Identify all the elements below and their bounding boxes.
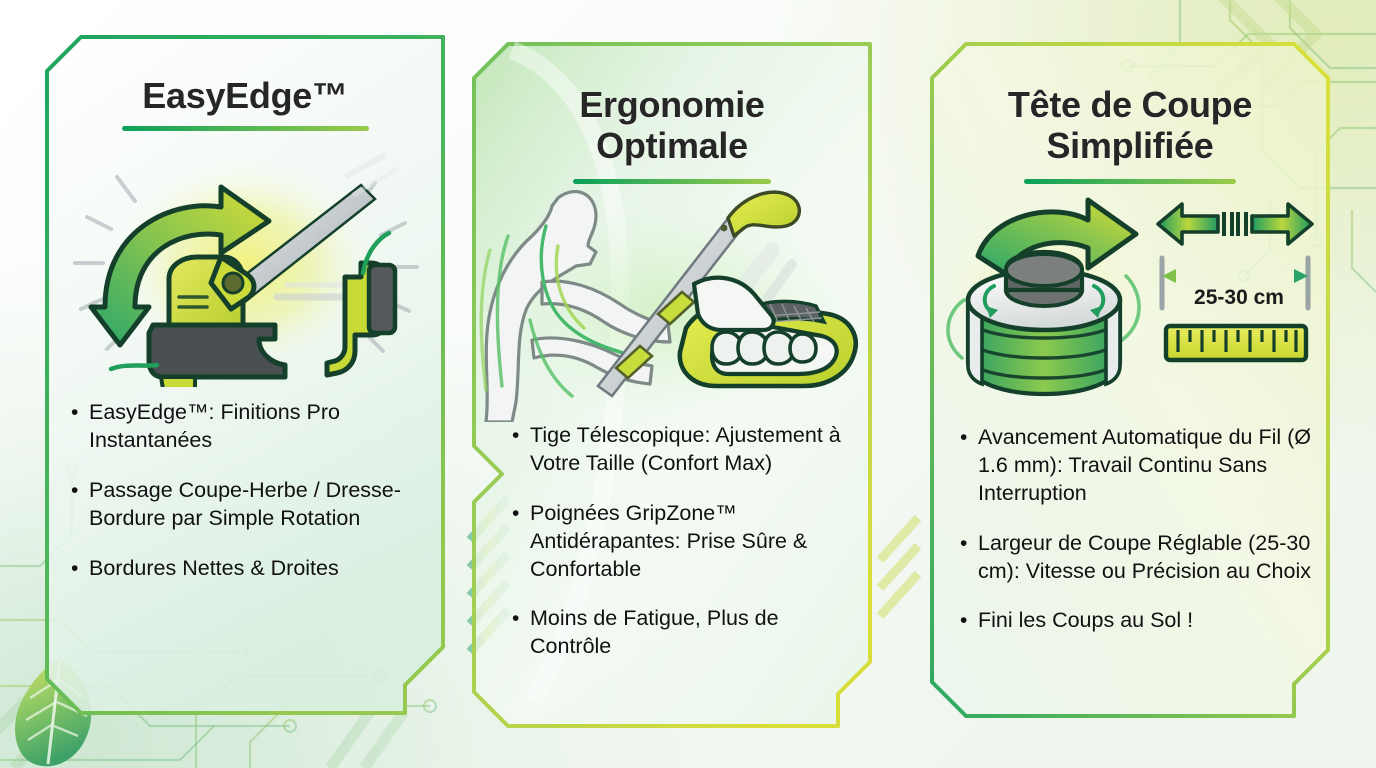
bullet-icon: •: [512, 500, 530, 584]
list-item: • Largeur de Coupe Réglable (25-30 cm): …: [960, 530, 1312, 586]
title-underline: [573, 179, 771, 184]
list-item: • Passage Coupe-Herbe / Dresse-Bordure p…: [71, 477, 435, 533]
list-item: • Avancement Automatique du Fil (Ø 1.6 m…: [960, 424, 1312, 508]
panel-title-block: Ergonomie Optimale: [472, 42, 872, 184]
page-title: EasyEdge™: [45, 75, 445, 116]
list-item-text: Largeur de Coupe Réglable (25-30 cm): Vi…: [978, 530, 1312, 586]
list-item-text: Fini les Coups au Sol !: [978, 607, 1312, 635]
page-title-line-2: Simplifiée: [930, 125, 1330, 166]
panel-tete-de-coupe: Tête de Coupe Simplifiée: [930, 42, 1330, 718]
bullet-icon: •: [960, 530, 978, 586]
feature-list: • Avancement Automatique du Fil (Ø 1.6 m…: [930, 424, 1330, 718]
list-item-text: Passage Coupe-Herbe / Dresse-Bordure par…: [89, 477, 435, 533]
panel-ergonomie: Ergonomie Optimale: [472, 42, 872, 728]
list-item-text: Poignées GripZone™ Antidérapantes: Prise…: [530, 500, 858, 584]
bullet-icon: •: [71, 555, 89, 583]
list-item-text: Moins de Fatigue, Plus de Contrôle: [530, 605, 858, 661]
illustration-ergonomic-posture: [472, 190, 872, 422]
list-item-text: Avancement Automatique du Fil (Ø 1.6 mm)…: [978, 424, 1312, 508]
bullet-icon: •: [512, 605, 530, 661]
panel-easyedge: EasyEdge™: [45, 35, 445, 715]
panel-title-block: EasyEdge™: [45, 35, 445, 131]
list-item: • Moins de Fatigue, Plus de Contrôle: [512, 605, 858, 661]
infographic-canvas: EasyEdge™: [0, 0, 1376, 768]
diagonal-stripes-decoration-2: [880, 518, 918, 616]
page-title: Ergonomie Optimale: [472, 84, 872, 167]
title-underline: [1024, 179, 1236, 184]
bullet-icon: •: [960, 607, 978, 635]
list-item: • EasyEdge™: Finitions Pro Instantanées: [71, 399, 435, 455]
bullet-icon: •: [71, 399, 89, 455]
list-item-text: EasyEdge™: Finitions Pro Instantanées: [89, 399, 435, 455]
bullet-icon: •: [960, 424, 978, 508]
title-underline: [122, 126, 369, 131]
measurement-label: 25-30 cm: [1166, 286, 1312, 310]
list-item-text: Tige Télescopique: Ajustement à Votre Ta…: [530, 422, 858, 478]
feature-list: • Tige Télescopique: Ajustement à Votre …: [472, 422, 872, 728]
width-arrow-icon: [1158, 204, 1312, 244]
illustration-spool-and-width: 25-30 cm: [930, 190, 1330, 420]
list-item: • Bordures Nettes & Droites: [71, 555, 435, 583]
panel-title-block: Tête de Coupe Simplifiée: [930, 42, 1330, 184]
page-title-line-1: Ergonomie: [472, 84, 872, 125]
list-item-text: Bordures Nettes & Droites: [89, 555, 435, 583]
bullet-icon: •: [512, 422, 530, 478]
list-item: • Poignées GripZone™ Antidérapantes: Pri…: [512, 500, 858, 584]
page-title-line-1: Tête de Coupe: [930, 84, 1330, 125]
page-title-line-2: Optimale: [472, 125, 872, 166]
feature-list: • EasyEdge™: Finitions Pro Instantanées …: [45, 399, 445, 715]
bullet-icon: •: [71, 477, 89, 533]
list-item: • Fini les Coups au Sol !: [960, 607, 1312, 635]
illustration-trimmer-rotation: [45, 137, 445, 387]
page-title: Tête de Coupe Simplifiée: [930, 84, 1330, 167]
list-item: • Tige Télescopique: Ajustement à Votre …: [512, 422, 858, 478]
